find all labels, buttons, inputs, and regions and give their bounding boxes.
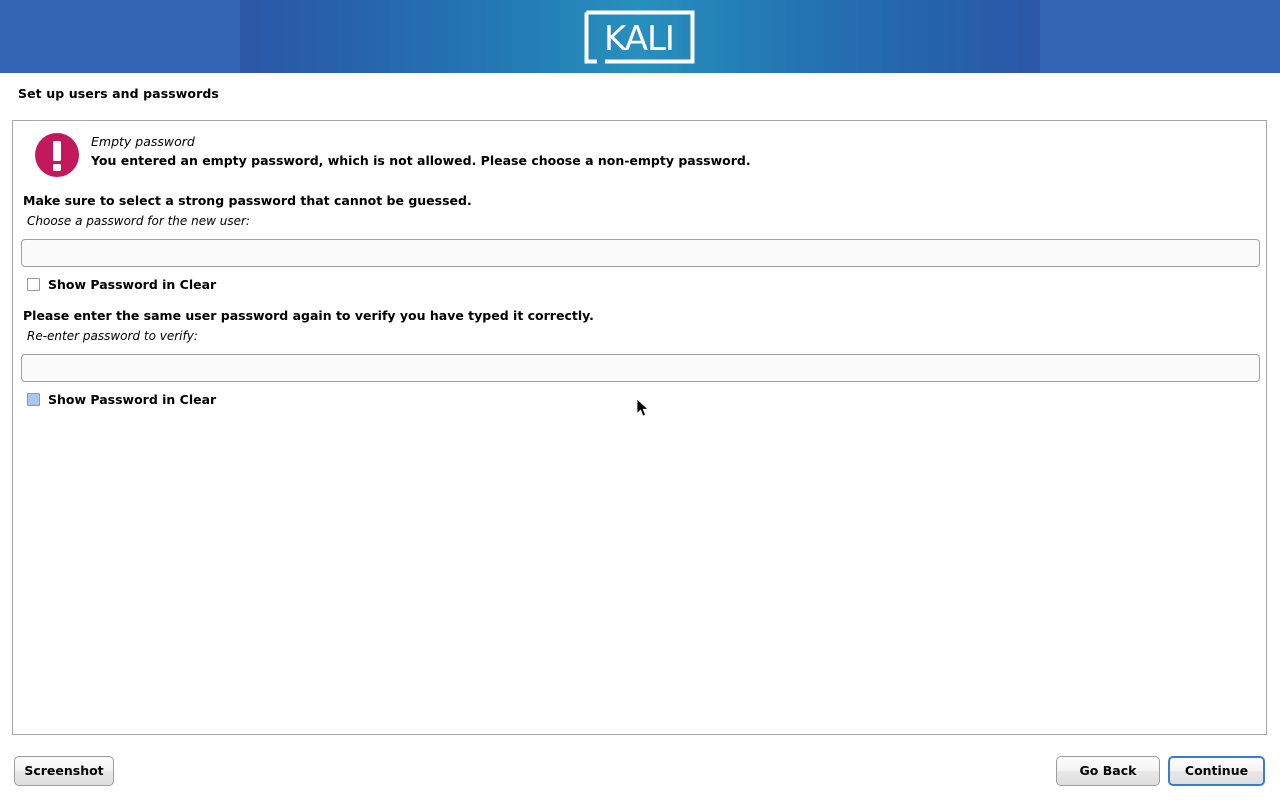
error-title: Empty password [91,134,195,149]
show-password-row-2[interactable]: Show Password in Clear [27,392,216,407]
password-field-label: Choose a password for the new user: [27,214,250,228]
page-title: Set up users and passwords [18,86,219,101]
show-password-row-1[interactable]: Show Password in Clear [27,277,216,292]
kali-logo: KALI [583,9,696,65]
show-password-checkbox-2[interactable] [27,393,40,406]
kali-banner: KALI [0,0,1280,73]
password-input[interactable] [21,239,1260,267]
svg-text:KALI: KALI [604,19,674,59]
continue-button[interactable]: Continue [1168,756,1265,786]
show-password-label-2: Show Password in Clear [48,392,216,407]
password-section-heading: Make sure to select a strong password th… [23,193,472,208]
verify-field-label: Re-enter password to verify: [27,329,198,343]
screenshot-button[interactable]: Screenshot [14,756,114,786]
verify-section-heading: Please enter the same user password agai… [23,308,594,323]
installer-screen: KALI Set up users and passwords Empty pa… [0,0,1280,800]
go-back-button[interactable]: Go Back [1056,756,1160,786]
verify-password-input[interactable] [21,354,1260,382]
show-password-label-1: Show Password in Clear [48,277,216,292]
error-description: You entered an empty password, which is … [91,153,751,168]
error-exclamation-icon [34,132,80,178]
show-password-checkbox-1[interactable] [27,278,40,291]
main-panel: Empty password You entered an empty pass… [12,120,1267,735]
